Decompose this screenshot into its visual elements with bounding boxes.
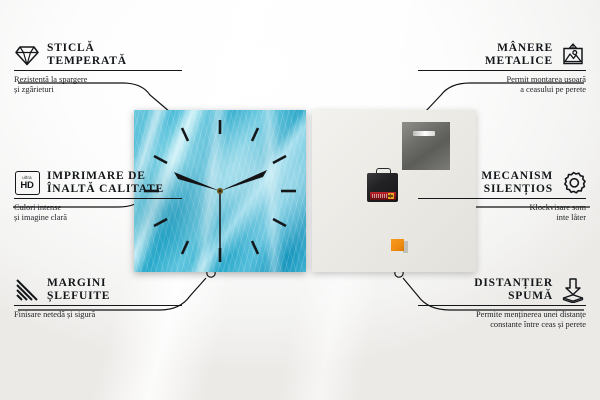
foam-spacer — [391, 239, 404, 251]
feature-description: Finisare netedă și sigură — [14, 310, 182, 320]
feature-divider — [14, 305, 182, 306]
feature-title: DISTANȚIER SPUMĂ — [474, 277, 553, 303]
feature-title: MECANISM SILENȚIOS — [481, 170, 553, 196]
feature-divider — [418, 70, 586, 71]
press-down-icon — [560, 277, 586, 303]
diamond-icon — [14, 42, 40, 68]
feature-header: MARGINI ȘLEFUITE — [14, 277, 182, 303]
feature-foam-spacer: DISTANȚIER SPUMĂ Permite menținerea unei… — [418, 277, 586, 331]
ultra-hd-big-text: HD — [20, 181, 33, 191]
metal-hanger-plate — [402, 122, 450, 170]
feature-title: MARGINI ȘLEFUITE — [47, 277, 110, 303]
picture-frame-icon — [560, 42, 586, 68]
feature-divider — [418, 305, 586, 306]
feature-tempered-glass: STICLĂ TEMPERATĂ Rezistentă la spargere … — [14, 42, 182, 96]
feature-header: MÂNERE METALICE — [418, 42, 586, 68]
feature-header: ultra HD IMPRIMARE DE ÎNALTĂ CALITATE — [14, 170, 182, 196]
feature-silent-mechanism: MECANISM SILENȚIOS Klockvisare som inte … — [418, 170, 586, 224]
battery-plus-terminal — [388, 193, 394, 199]
beveled-edge-icon — [14, 277, 40, 303]
feature-divider — [418, 198, 586, 199]
feature-description: Rezistentă la spargere și zgârieturi — [14, 75, 182, 96]
feature-metal-hangers: MÂNERE METALICE Permit montarea ușoară a… — [418, 42, 586, 96]
feature-polished-edges: MARGINI ȘLEFUITE Finisare netedă și sigu… — [14, 277, 182, 320]
gear-icon — [560, 170, 586, 196]
battery — [370, 192, 396, 200]
feature-description: Klockvisare som inte låter — [418, 203, 586, 224]
feature-high-quality-print: ultra HD IMPRIMARE DE ÎNALTĂ CALITATE Cu… — [14, 170, 182, 224]
feature-description: Culori intense și imagine clară — [14, 203, 182, 224]
feature-title: MÂNERE METALICE — [485, 42, 553, 68]
feature-header: DISTANȚIER SPUMĂ — [418, 277, 586, 303]
clock-mechanism — [367, 168, 398, 202]
feature-title: STICLĂ TEMPERATĂ — [47, 42, 127, 68]
ultra-hd-icon: ultra HD — [14, 170, 40, 196]
mechanism-body — [367, 173, 398, 202]
feature-description: Permite menținerea unei distanțe constan… — [418, 310, 586, 331]
feature-divider — [14, 70, 182, 71]
feature-header: STICLĂ TEMPERATĂ — [14, 42, 182, 68]
battery-label — [372, 194, 388, 197]
feature-header: MECANISM SILENȚIOS — [418, 170, 586, 196]
feature-description: Permit montarea ușoară a ceasului pe per… — [418, 75, 586, 96]
hanger-slot — [413, 131, 435, 136]
feature-title: IMPRIMARE DE ÎNALTĂ CALITATE — [47, 170, 164, 196]
feature-divider — [14, 198, 182, 199]
infographic-canvas: STICLĂ TEMPERATĂ Rezistentă la spargere … — [0, 0, 600, 400]
